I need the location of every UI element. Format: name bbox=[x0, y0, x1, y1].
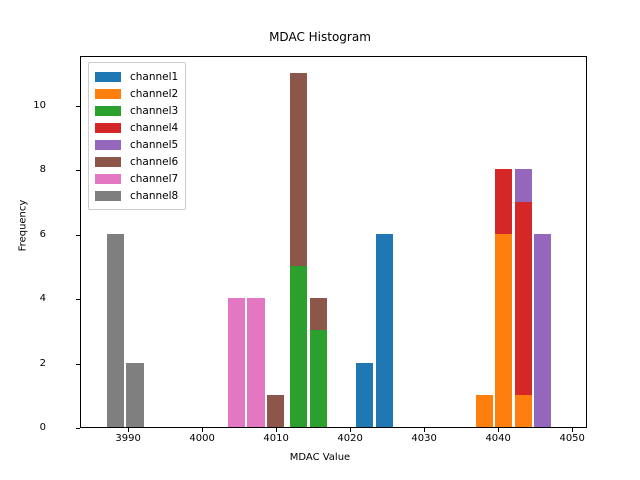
y-tick-label: 8 bbox=[6, 165, 46, 175]
x-tick-mark bbox=[350, 428, 351, 432]
bar-segment-channel3 bbox=[310, 330, 327, 427]
legend-item-channel5: channel5 bbox=[95, 136, 178, 153]
y-axis-label: Frequency bbox=[18, 106, 29, 346]
legend-item-channel7: channel7 bbox=[95, 170, 178, 187]
x-tick-mark bbox=[202, 428, 203, 432]
histogram-bar bbox=[247, 298, 265, 427]
x-tick-label: 4050 bbox=[542, 433, 602, 444]
histogram-bar bbox=[534, 234, 551, 427]
chart-legend: channel1channel2channel3channel4channel5… bbox=[88, 62, 186, 210]
legend-color-swatch bbox=[95, 89, 121, 99]
y-tick-label: 0 bbox=[6, 423, 46, 433]
histogram-bar bbox=[376, 234, 393, 427]
legend-item-channel8: channel8 bbox=[95, 187, 178, 204]
histogram-bar bbox=[126, 363, 144, 427]
bar-segment-channel2 bbox=[476, 395, 494, 427]
x-tick-label: 4020 bbox=[320, 433, 380, 444]
histogram-bar bbox=[228, 298, 246, 427]
bar-segment-channel8 bbox=[126, 363, 144, 427]
bar-segment-channel2 bbox=[495, 234, 513, 427]
x-tick-mark bbox=[276, 428, 277, 432]
histogram-bar bbox=[310, 298, 327, 427]
bar-segment-channel6 bbox=[310, 298, 327, 330]
x-tick-label: 3990 bbox=[98, 433, 158, 444]
bar-segment-channel2 bbox=[515, 395, 532, 427]
y-tick-label: 6 bbox=[6, 230, 46, 240]
legend-label: channel6 bbox=[130, 156, 178, 168]
bar-segment-channel1 bbox=[376, 234, 393, 427]
legend-label: channel5 bbox=[130, 139, 178, 151]
bar-segment-channel6 bbox=[267, 395, 284, 427]
histogram-bar bbox=[356, 363, 374, 427]
legend-color-swatch bbox=[95, 157, 121, 167]
y-tick-label: 2 bbox=[6, 359, 46, 369]
legend-label: channel1 bbox=[130, 71, 178, 83]
x-tick-label: 4040 bbox=[468, 433, 528, 444]
histogram-bar bbox=[290, 73, 308, 427]
x-tick-mark bbox=[498, 428, 499, 432]
histogram-bar bbox=[495, 169, 513, 427]
legend-label: channel4 bbox=[130, 122, 178, 134]
legend-item-channel2: channel2 bbox=[95, 85, 178, 102]
bar-segment-channel6 bbox=[290, 73, 308, 266]
x-axis-label: MDAC Value bbox=[0, 452, 640, 463]
legend-color-swatch bbox=[95, 106, 121, 116]
bar-segment-channel1 bbox=[356, 363, 374, 427]
matplotlib-figure: MDAC Histogram Frequency MDAC Value 0246… bbox=[0, 0, 640, 480]
legend-item-channel4: channel4 bbox=[95, 119, 178, 136]
x-tick-label: 4010 bbox=[246, 433, 306, 444]
x-tick-mark bbox=[128, 428, 129, 432]
legend-color-swatch bbox=[95, 174, 121, 184]
bar-segment-channel5 bbox=[515, 169, 532, 201]
x-tick-mark bbox=[572, 428, 573, 432]
bar-segment-channel4 bbox=[515, 202, 532, 395]
legend-item-channel6: channel6 bbox=[95, 153, 178, 170]
x-tick-label: 4000 bbox=[172, 433, 232, 444]
legend-label: channel8 bbox=[130, 190, 178, 202]
legend-item-channel1: channel1 bbox=[95, 68, 178, 85]
histogram-bar bbox=[515, 169, 532, 427]
y-tick-label: 10 bbox=[6, 101, 46, 111]
bar-segment-channel4 bbox=[495, 169, 513, 233]
y-tick-mark bbox=[76, 428, 80, 429]
legend-item-channel3: channel3 bbox=[95, 102, 178, 119]
x-tick-label: 4030 bbox=[394, 433, 454, 444]
bar-segment-channel3 bbox=[290, 266, 308, 427]
legend-color-swatch bbox=[95, 191, 121, 201]
legend-color-swatch bbox=[95, 140, 121, 150]
legend-label: channel3 bbox=[130, 105, 178, 117]
legend-color-swatch bbox=[95, 123, 121, 133]
bar-segment-channel8 bbox=[107, 234, 124, 427]
bar-segment-channel7 bbox=[228, 298, 246, 427]
legend-label: channel2 bbox=[130, 88, 178, 100]
histogram-bar bbox=[107, 234, 124, 427]
legend-color-swatch bbox=[95, 72, 121, 82]
y-tick-label: 4 bbox=[6, 294, 46, 304]
bar-segment-channel5 bbox=[534, 234, 551, 427]
histogram-bar bbox=[476, 395, 494, 427]
histogram-bar bbox=[267, 395, 284, 427]
legend-label: channel7 bbox=[130, 173, 178, 185]
bar-segment-channel7 bbox=[247, 298, 265, 427]
x-tick-mark bbox=[424, 428, 425, 432]
chart-title: MDAC Histogram bbox=[0, 30, 640, 44]
